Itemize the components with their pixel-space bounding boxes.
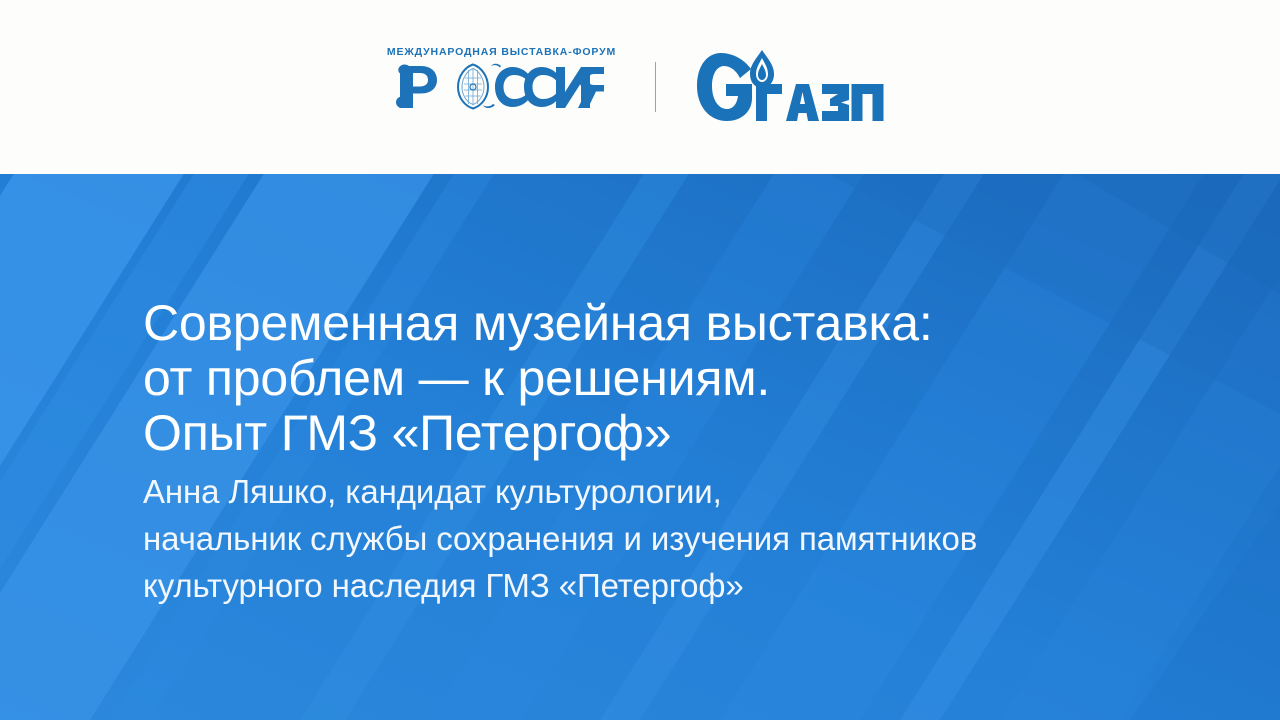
logo-row: МЕЖДУНАРОДНАЯ ВЫСТАВКА-ФОРУМ [0,0,1280,174]
slide-text-block: Современная музейная выставка: от пробле… [143,296,1203,609]
title-line-1: Современная музейная выставка: [143,295,933,351]
title-line-3: Опыт ГМЗ «Петергоф» [143,405,671,461]
slide-subtitle: Анна Ляшко, кандидат культурологии, нача… [143,461,1203,609]
gazprom-logo [696,48,892,126]
ornate-o-letter [458,64,488,108]
gazprom-wordmark [756,84,884,121]
subtitle-line-2: начальник службы сохранения и изучения п… [143,520,977,557]
slide-header-band: МЕЖДУНАРОДНАЯ ВЫСТАВКА-ФОРУМ [0,0,1280,174]
russia-expo-forum-logo: МЕЖДУНАРОДНАЯ ВЫСТАВКА-ФОРУМ [389,47,615,127]
subtitle-line-1: Анна Ляшко, кандидат культурологии, [143,473,722,510]
title-line-2: от проблем — к решениям. [143,350,770,406]
russia-wordmark-icon [395,63,609,110]
presentation-slide: МЕЖДУНАРОДНАЯ ВЫСТАВКА-ФОРУМ [0,0,1280,720]
logo-divider-line [655,62,656,112]
russia-logo-kicker: МЕЖДУНАРОДНАЯ ВЫСТАВКА-ФОРУМ [387,47,616,58]
subtitle-line-3: культурного наследия ГМЗ «Петергоф» [143,567,744,604]
page-title: Современная музейная выставка: от пробле… [143,296,1203,461]
